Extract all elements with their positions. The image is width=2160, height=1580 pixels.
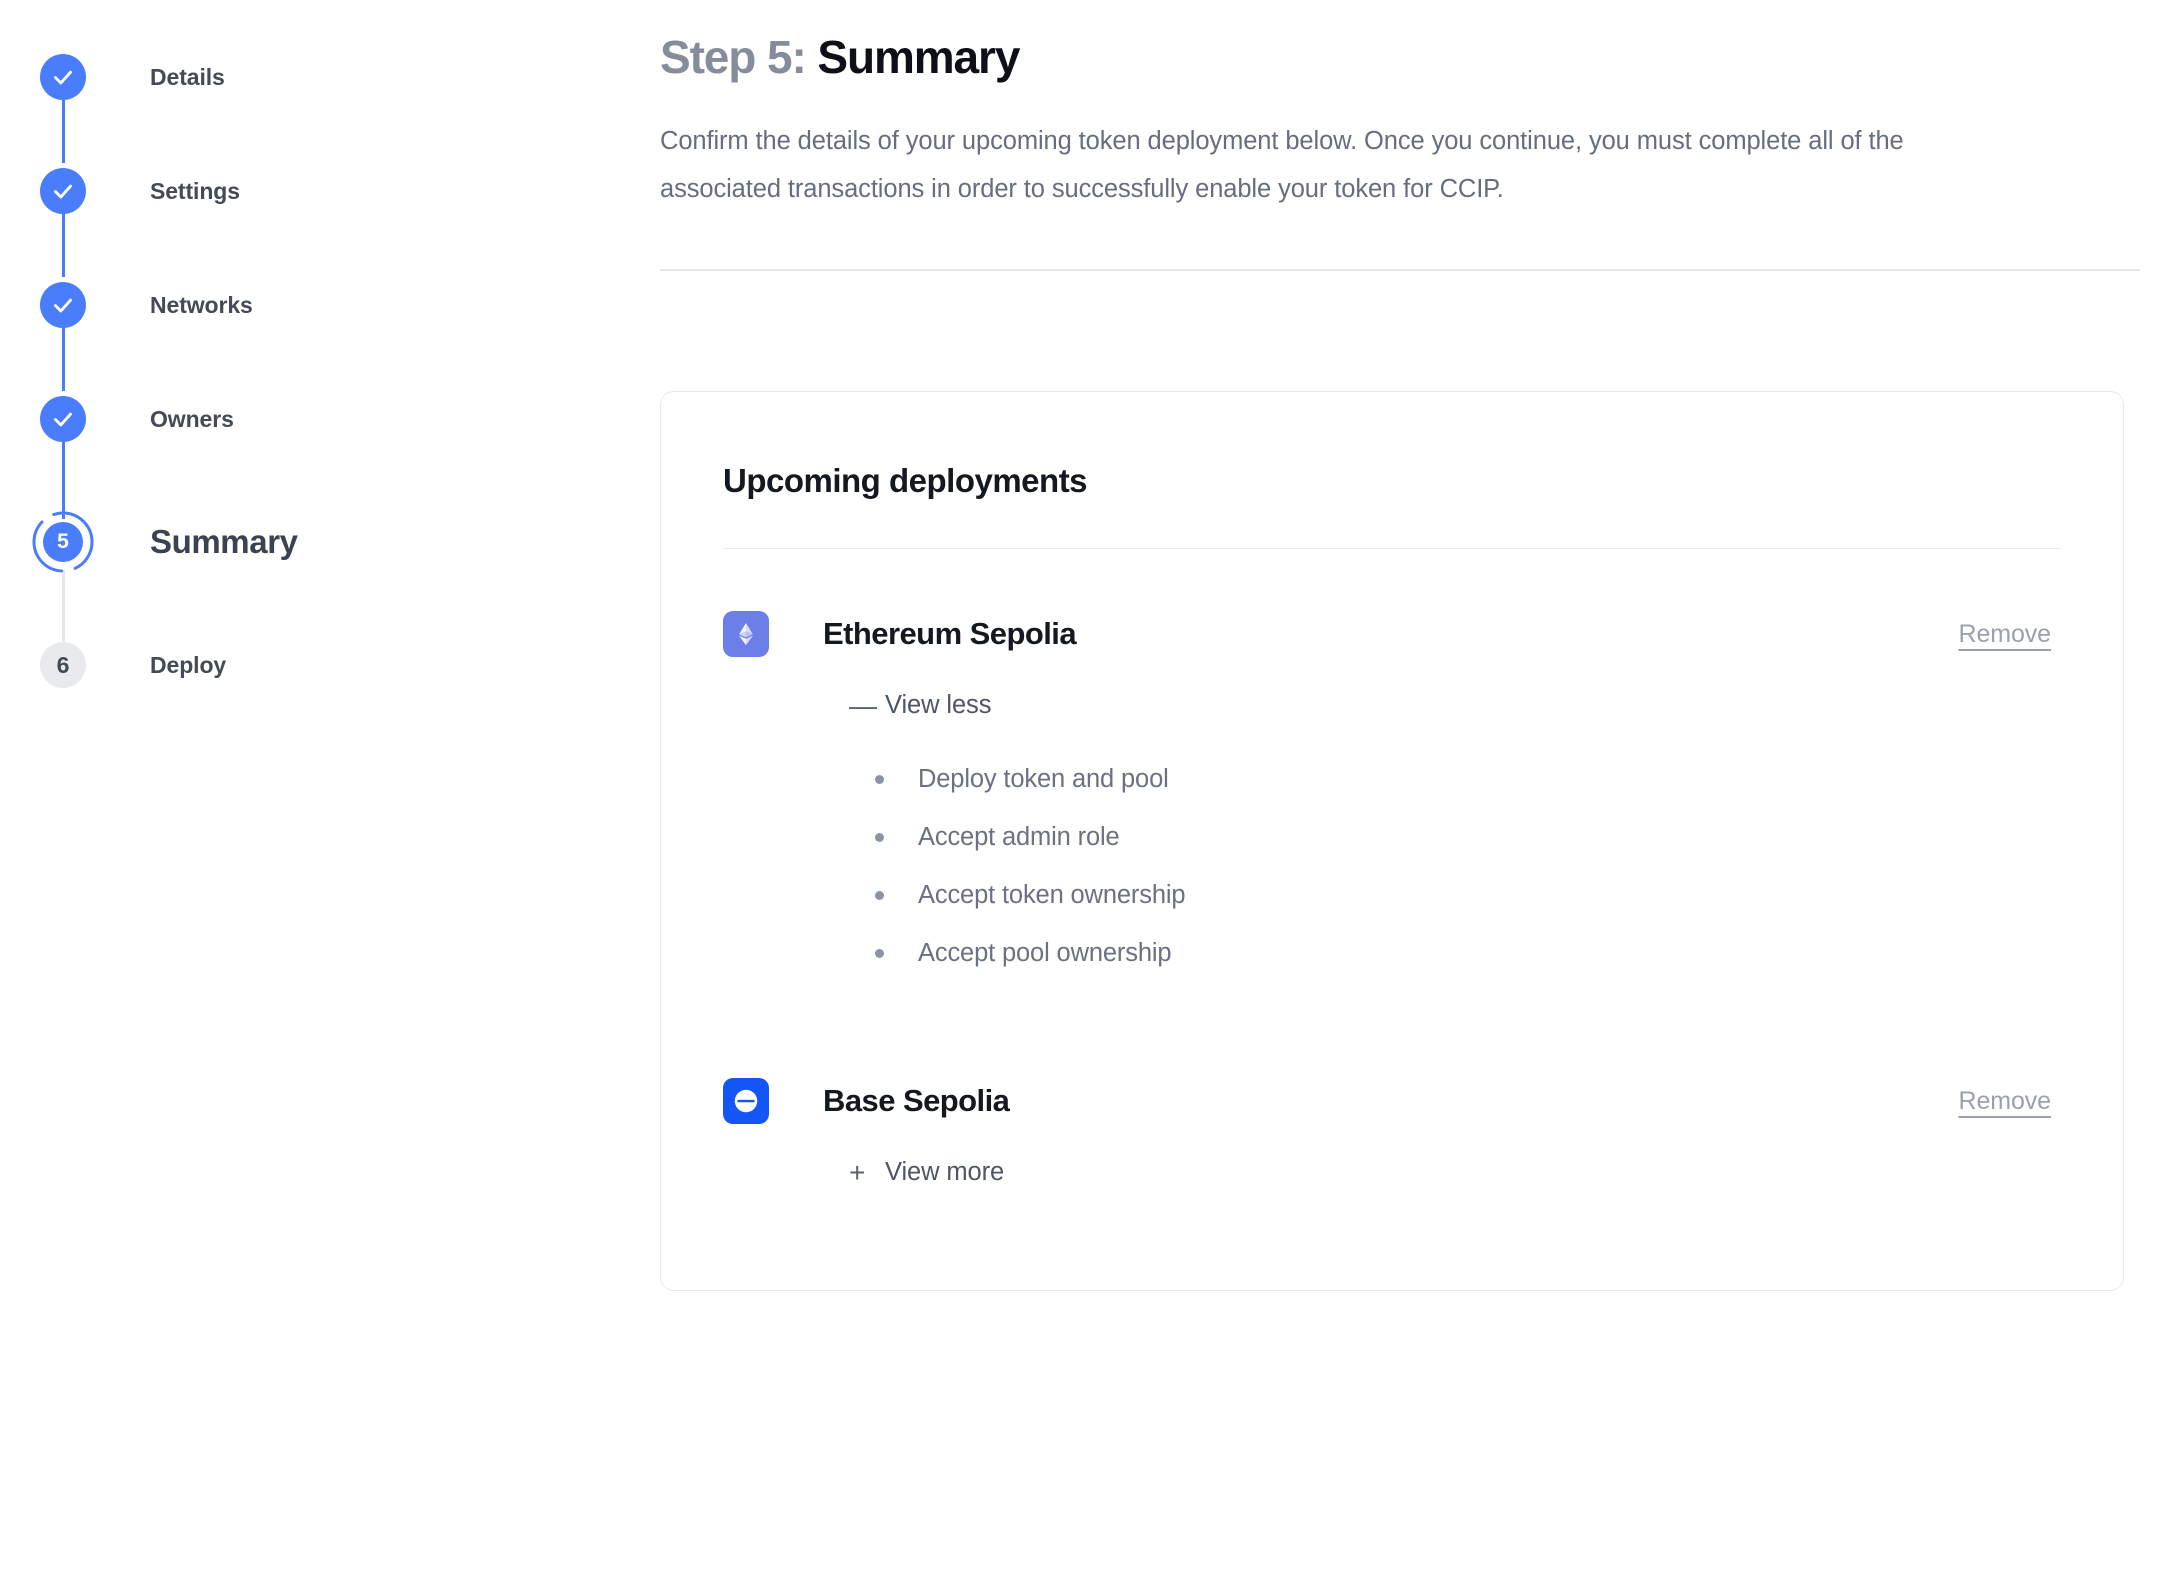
card-title: Upcoming deployments: [723, 462, 2061, 500]
check-icon: [40, 282, 86, 328]
remove-button[interactable]: Remove: [1959, 1087, 2052, 1116]
step-marker-owners: [26, 396, 100, 442]
bullet-icon: [875, 833, 884, 842]
plus-icon: +: [849, 1159, 879, 1187]
view-more-toggle[interactable]: + View more: [849, 1158, 1004, 1187]
step-number-badge: 6: [40, 642, 86, 688]
sidebar-item-networks[interactable]: Networks: [0, 248, 660, 362]
remove-button[interactable]: Remove: [1959, 620, 2052, 649]
deployment-row: Ethereum Sepolia Remove — View less Depl…: [723, 611, 2061, 982]
list-item: Accept token ownership: [875, 866, 2061, 924]
task-label: Accept pool ownership: [918, 939, 1171, 968]
bullet-icon: [875, 891, 884, 900]
minus-icon: —: [849, 692, 879, 720]
card-title-divider: [723, 548, 2061, 550]
check-icon: [40, 54, 86, 100]
check-icon: [40, 168, 86, 214]
sidebar-item-owners[interactable]: Owners: [0, 362, 660, 476]
step-label-owners: Owners: [150, 406, 234, 433]
sidebar-item-settings[interactable]: Settings: [0, 134, 660, 248]
task-label: Accept admin role: [918, 823, 1120, 852]
task-label: Accept token ownership: [918, 881, 1185, 910]
step-label-summary: Summary: [150, 523, 298, 561]
sidebar-item-summary[interactable]: 5 Summary: [0, 476, 660, 608]
list-item: Accept admin role: [875, 808, 2061, 866]
deployment-header: Base Sepolia Remove: [723, 1078, 2061, 1124]
step-label-settings: Settings: [150, 178, 240, 205]
list-item: Deploy token and pool: [875, 750, 2061, 808]
base-icon: [723, 1078, 769, 1124]
step-marker-details: [26, 54, 100, 100]
bullet-icon: [875, 949, 884, 958]
view-toggle-label: View less: [885, 691, 991, 720]
list-item: Accept pool ownership: [875, 924, 2061, 982]
page-title-main: Summary: [817, 31, 1019, 83]
ethereum-icon: [723, 611, 769, 657]
page-title: Step 5: Summary: [660, 30, 2140, 85]
wizard-stepper: Details Settings Netwo: [0, 0, 660, 1580]
step-number-badge: 5: [43, 522, 83, 562]
summary-page: Details Settings Netwo: [0, 0, 2160, 1580]
task-label: Deploy token and pool: [918, 765, 1169, 794]
network-name: Base Sepolia: [823, 1083, 1009, 1119]
step-label-deploy: Deploy: [150, 652, 226, 679]
step-label-details: Details: [150, 64, 225, 91]
bullet-icon: [875, 775, 884, 784]
step-marker-deploy: 6: [26, 642, 100, 688]
view-toggle-label: View more: [885, 1158, 1004, 1187]
deployment-task-list: Deploy token and pool Accept admin role …: [875, 750, 2061, 982]
deployment-row: Base Sepolia Remove + View more: [723, 1078, 2061, 1187]
main-content: Step 5: Summary Confirm the details of y…: [660, 0, 2160, 1580]
sidebar-item-deploy[interactable]: 6 Deploy: [0, 608, 660, 722]
check-icon: [40, 396, 86, 442]
step-label-networks: Networks: [150, 292, 253, 319]
page-description: Confirm the details of your upcoming tok…: [660, 117, 1935, 213]
upcoming-deployments-card: Upcoming deployments: [660, 391, 2124, 1291]
header-divider: [660, 269, 2140, 271]
step-marker-settings: [26, 168, 100, 214]
deployment-header: Ethereum Sepolia Remove: [723, 611, 2061, 657]
step-marker-networks: [26, 282, 100, 328]
page-title-prefix: Step 5:: [660, 31, 806, 83]
step-marker-summary: 5: [26, 505, 100, 579]
view-less-toggle[interactable]: — View less: [849, 691, 991, 720]
network-name: Ethereum Sepolia: [823, 616, 1076, 652]
sidebar-item-details[interactable]: Details: [0, 20, 660, 134]
